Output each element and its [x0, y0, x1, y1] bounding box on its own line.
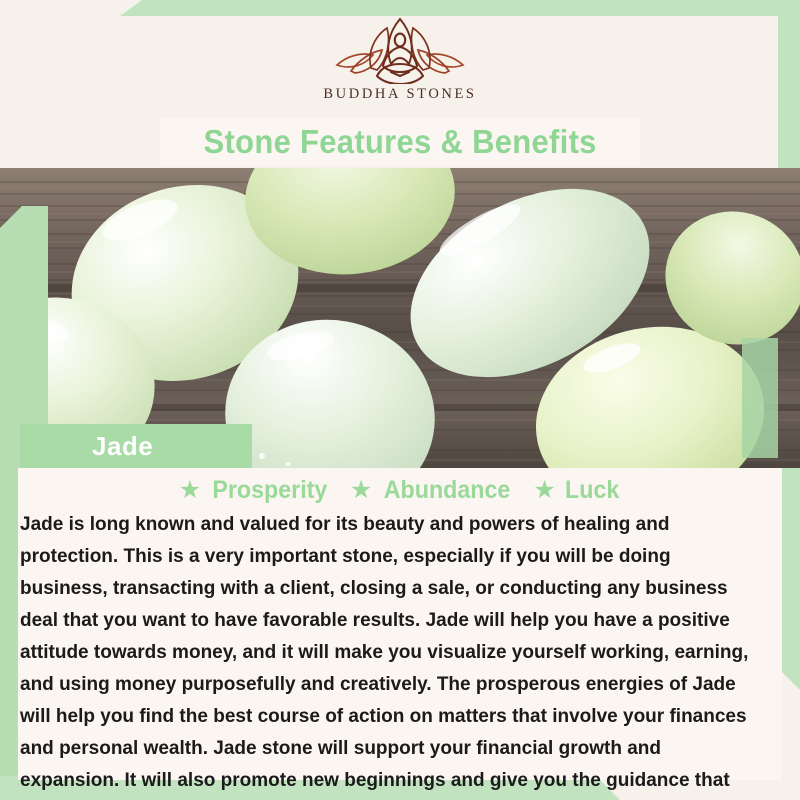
content-panel: ★ Prosperity ★ Abundance ★ Luck Jade is …: [18, 468, 782, 780]
star-icon: ★: [533, 478, 555, 503]
benefit-item: ★ Luck: [533, 476, 621, 505]
stone-name-badge: Jade: [20, 424, 252, 468]
benefit-item: ★ Abundance: [350, 476, 516, 505]
lotus-meditation-icon: [325, 16, 475, 84]
stone-description: Jade is long known and valued for its be…: [20, 508, 759, 800]
page-title: Stone Features & Benefits: [203, 123, 596, 161]
star-icon: ★: [350, 478, 372, 503]
benefit-label: Luck: [565, 476, 619, 505]
stone-photo: [0, 168, 800, 468]
page-title-strip: Stone Features & Benefits: [160, 118, 640, 166]
brand-header: BUDDHA STONES: [0, 0, 800, 122]
decor-right-green-accent: [742, 338, 778, 458]
stone-info-card: BUDDHA STONES Stone Features & Benefits: [0, 0, 800, 800]
benefits-list: ★ Prosperity ★ Abundance ★ Luck: [18, 476, 782, 505]
benefit-label: Prosperity: [213, 476, 328, 505]
benefit-label: Abundance: [384, 476, 511, 505]
benefit-item: ★ Prosperity: [179, 476, 332, 505]
brand-name: BUDDHA STONES: [323, 86, 476, 103]
stone-name: Jade: [92, 431, 153, 462]
star-icon: ★: [179, 478, 201, 503]
